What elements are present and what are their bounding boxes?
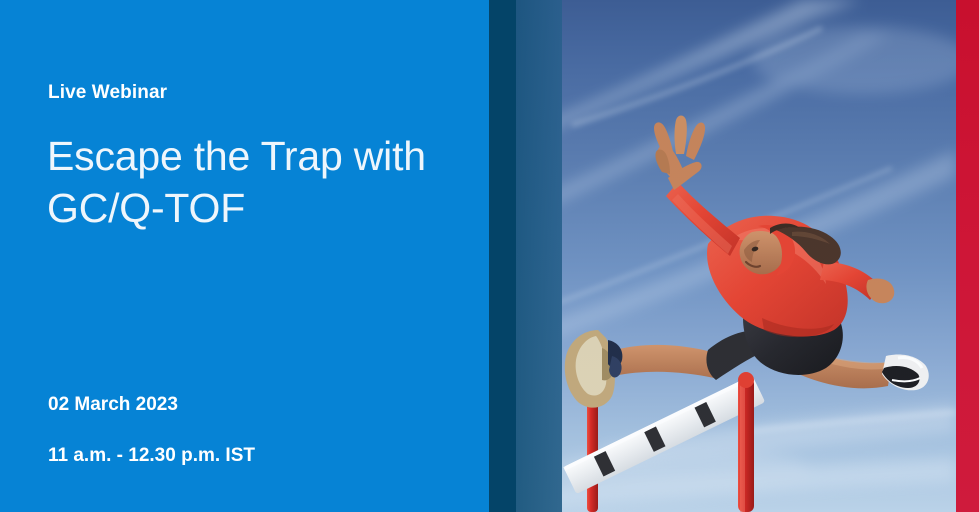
event-schedule: 02 March 2023 11 a.m. - 12.30 p.m. IST bbox=[48, 394, 255, 467]
navy-divider-band bbox=[489, 0, 516, 512]
hero-photo-hurdler bbox=[562, 0, 956, 512]
left-info-panel: Live Webinar Escape the Trap with GC/Q-T… bbox=[0, 0, 489, 512]
event-time: 11 a.m. - 12.30 p.m. IST bbox=[48, 445, 255, 467]
headline-line-1: Escape the Trap with bbox=[47, 130, 467, 182]
event-date: 02 March 2023 bbox=[48, 394, 255, 416]
hurdler-illustration bbox=[562, 0, 956, 512]
webinar-banner: Live Webinar Escape the Trap with GC/Q-T… bbox=[0, 0, 979, 512]
eyebrow-label: Live Webinar bbox=[48, 82, 167, 104]
mid-blue-divider-band bbox=[516, 0, 562, 512]
red-accent-stripe bbox=[956, 0, 979, 512]
headline-line-2: GC/Q-TOF bbox=[47, 182, 467, 234]
page-title: Escape the Trap with GC/Q-TOF bbox=[47, 130, 467, 234]
